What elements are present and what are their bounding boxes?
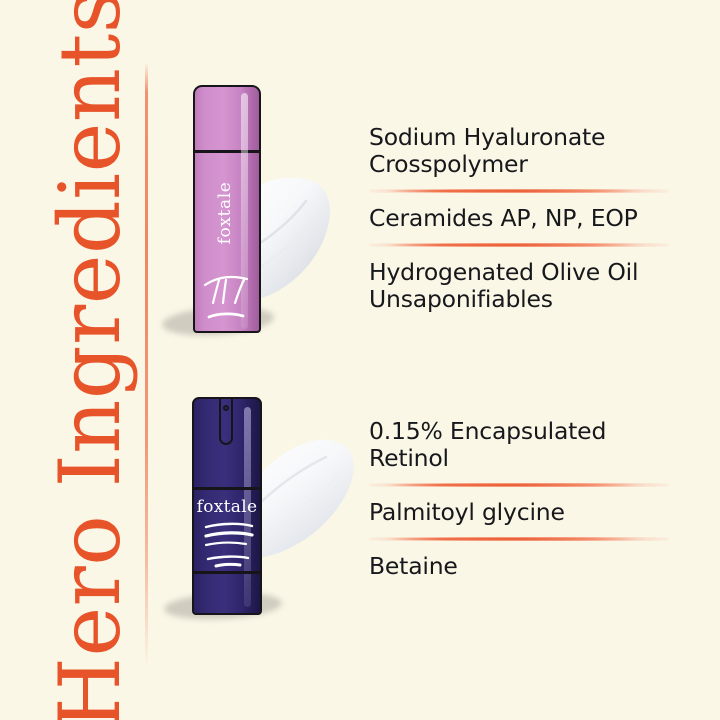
ingredient-label: Palmitoyl glycine [369, 499, 669, 526]
page-title: Hero Ingredients [48, 0, 132, 720]
ingredient-divider [369, 243, 669, 247]
ingredient-label: Hydrogenated Olive Oil Unsaponifiables [369, 259, 669, 313]
ingredient-item: Betaine [369, 553, 669, 580]
ingredient-item: Hydrogenated Olive Oil Unsaponifiables [369, 259, 669, 313]
ingredient-list-serum: 0.15% Encapsulated Retinol Palmitoyl gly… [369, 418, 669, 580]
ingredient-label: Sodium Hyaluronate Crosspolymer [369, 124, 669, 178]
ingredient-divider [369, 189, 669, 193]
bottle-cap-seam [195, 150, 259, 153]
page-title-container: Hero Ingredients [0, 0, 180, 720]
bottle-lower-seam [194, 571, 260, 574]
ingredient-item: Palmitoyl glycine [369, 499, 669, 526]
bottle-decorative-marks-icon [203, 269, 255, 321]
ingredient-label: Betaine [369, 553, 669, 580]
pump-nozzle-icon [223, 405, 229, 411]
brand-label-moisturizer: foxtale [215, 157, 235, 269]
ingredient-divider [369, 483, 669, 487]
ingredient-item: Ceramides AP, NP, EOP [369, 205, 669, 232]
vertical-divider [145, 62, 148, 670]
product-illustration-moisturizer: foxtale [160, 85, 360, 365]
hero-ingredients-graphic: Hero Ingredients foxtale [0, 0, 720, 720]
ingredient-list-moisturizer: Sodium Hyaluronate Crosspolymer Ceramide… [369, 124, 669, 313]
ingredient-item: Sodium Hyaluronate Crosspolymer [369, 124, 669, 178]
bottle-decorative-marks-icon [202, 521, 256, 569]
brand-label-serum: foxtale [194, 497, 260, 517]
ingredient-item: 0.15% Encapsulated Retinol [369, 418, 669, 472]
moisturizer-bottle-body: foxtale [193, 85, 261, 333]
ingredient-divider [369, 537, 669, 541]
ingredient-label: Ceramides AP, NP, EOP [369, 205, 669, 232]
ingredient-label: 0.15% Encapsulated Retinol [369, 418, 669, 472]
bottle-upper-seam [194, 487, 260, 490]
product-illustration-serum: foxtale [160, 385, 370, 630]
serum-bottle-body: foxtale [192, 397, 262, 615]
